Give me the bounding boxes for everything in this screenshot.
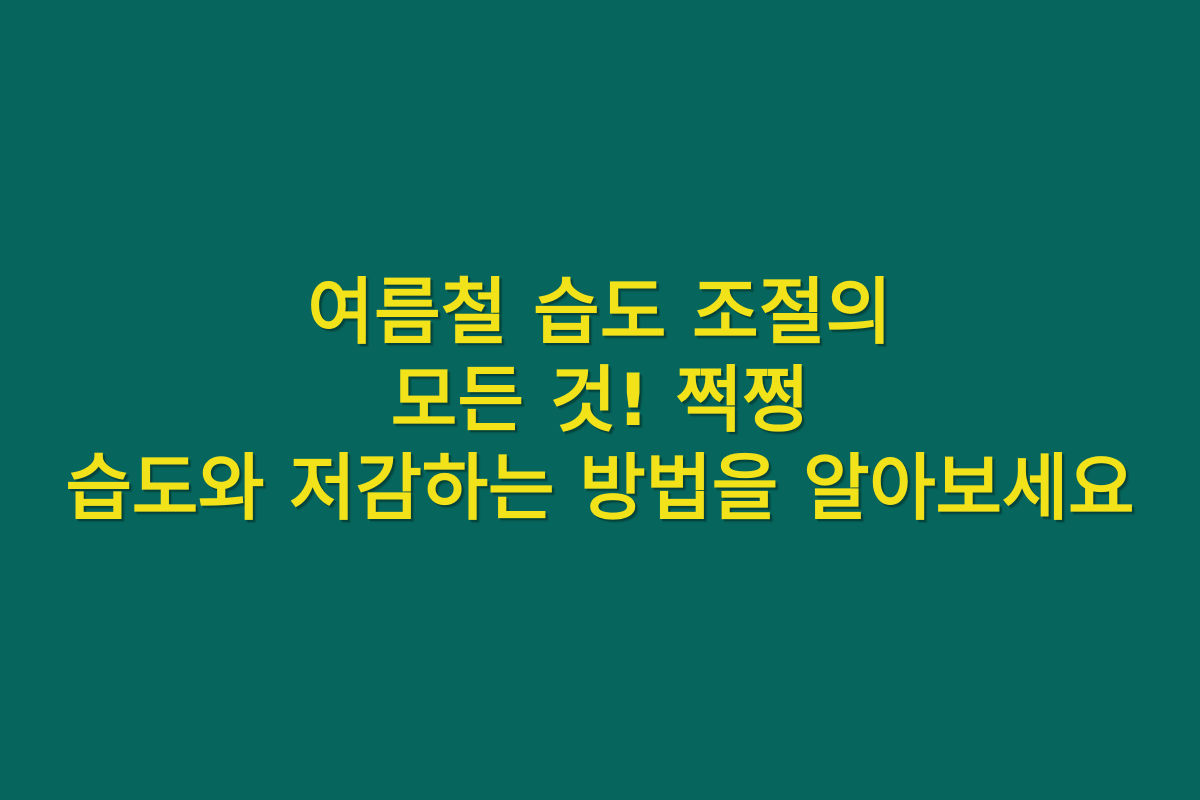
banner-card: 여름철 습도 조절의 모든 것! 쩍쩡 습도와 저감하는 방법을 알아보세요: [0, 0, 1200, 800]
headline-line-1: 여름철 습도 조절의: [8, 268, 1192, 356]
headline-line-3: 습도와 저감하는 방법을 알아보세요: [8, 444, 1192, 532]
headline-block: 여름철 습도 조절의 모든 것! 쩍쩡 습도와 저감하는 방법을 알아보세요: [0, 268, 1200, 532]
headline-line-2: 모든 것! 쩍쩡: [8, 356, 1192, 444]
